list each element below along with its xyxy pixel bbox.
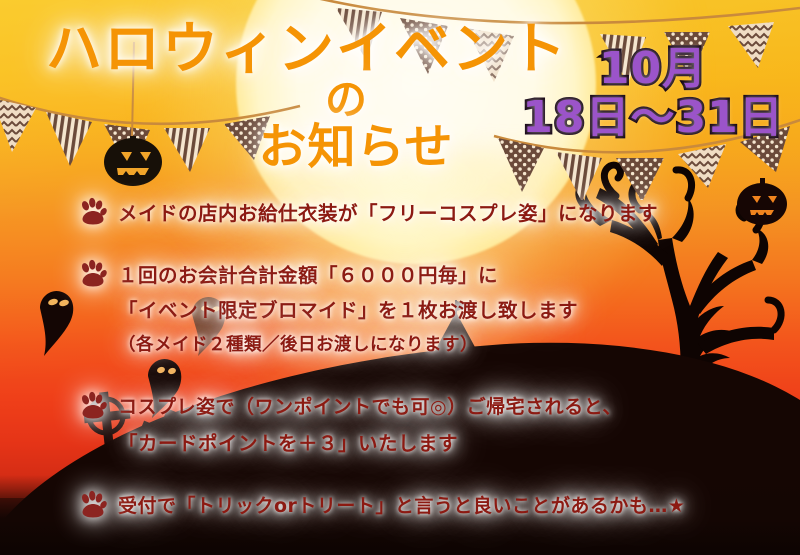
bullet-item-1: メイドの店内お給仕衣装が「フリーコスプレ姿」になります <box>78 196 658 226</box>
bullet-item-3: コスプレ姿で（ワンポイントでも可◎）ご帰宅されると、 <box>78 390 622 420</box>
bullet-3-line-1: コスプレ姿で（ワンポイントでも可◎）ご帰宅されると、 <box>118 392 622 419</box>
bullet-3-row-2: 「カードポイントを＋３」いたします <box>118 427 458 456</box>
bullet-2-row-3: （各メイド２種類／後日お渡しになります） <box>118 331 478 356</box>
paw-print-icon <box>78 489 108 519</box>
bullet-2-line-1: １回のお会計合計金額「６０００円毎」に <box>118 259 498 288</box>
paw-print-icon <box>78 390 108 420</box>
bullet-item-2: １回のお会計合計金額「６０００円毎」に <box>78 258 498 288</box>
bullet-2-line-2: 「イベント限定ブロマイド」を１枚お渡し致します <box>118 294 578 323</box>
bullet-2-line-3: （各メイド２種類／後日お渡しになります） <box>118 331 478 356</box>
paw-print-icon <box>78 258 108 288</box>
bullet-1-line-1: メイドの店内お給仕衣装が「フリーコスプレ姿」になります <box>118 197 658 226</box>
bullet-4-line-1: 受付で「トリックorトリート」と言うと良いことがあるかも…★ <box>118 491 685 518</box>
bullet-2-row-2: 「イベント限定ブロマイド」を１枚お渡し致します <box>118 294 578 323</box>
paw-print-icon <box>78 196 108 226</box>
halloween-event-poster: ハロウィンイベント の お知らせ 10月 18日〜31日 メイドの店内お給仕衣装… <box>0 0 800 555</box>
bullet-3-line-2: 「カードポイントを＋３」いたします <box>118 427 458 456</box>
bullet-item-4: 受付で「トリックorトリート」と言うと良いことがあるかも…★ <box>78 489 685 519</box>
bullet-list: メイドの店内お給仕衣装が「フリーコスプレ姿」になります １回のお会計合計金額「６… <box>0 0 800 555</box>
